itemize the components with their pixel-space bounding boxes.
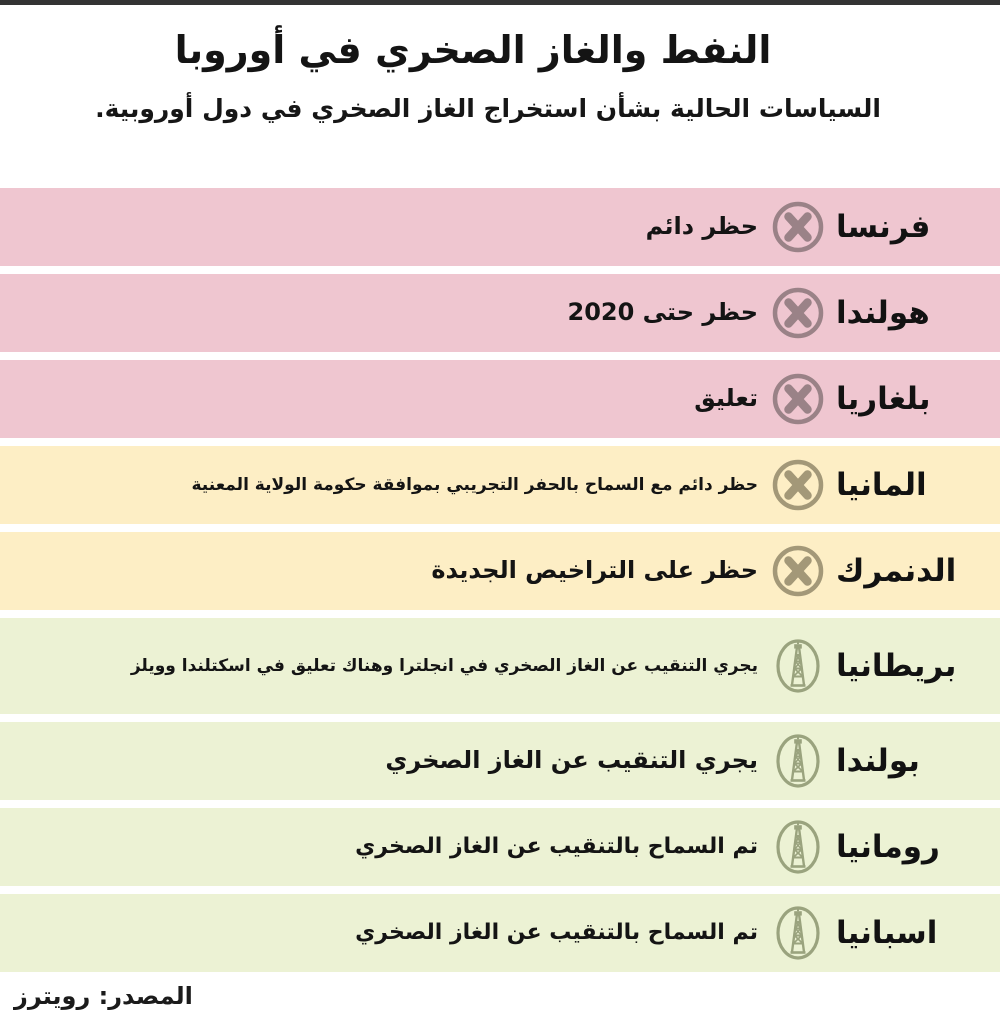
policy-row: رومانياتم السماح بالتنقيب عن الغاز الصخر… (0, 808, 1000, 886)
policy-status-text: حظر دائم (14, 211, 766, 243)
header: النفط والغاز الصخري في أوروبا السياسات ا… (0, 5, 1000, 185)
policy-status-text: يجري التنقيب عن الغاز الصخري في انجلترا … (14, 655, 766, 677)
page-subtitle: السياسات الحالية بشأن استخراج الغاز الصخ… (24, 93, 952, 126)
policy-status-text: تم السماح بالتنقيب عن الغاز الصخري (14, 918, 766, 947)
country-name: اسبانيا (830, 918, 980, 949)
policy-status-text: حظر دائم مع السماح بالحفر التجريبي بمواف… (14, 474, 766, 496)
country-name: رومانيا (830, 832, 980, 863)
policy-row: بولندايجري التنقيب عن الغاز الصخري (0, 722, 1000, 800)
country-policy-list: فرنساحظر دائمهولنداحظر حتى 2020بلغارياتع… (0, 188, 1000, 980)
country-name: بلغاريا (830, 384, 980, 415)
country-name: هولندا (830, 298, 980, 329)
infographic-page: النفط والغاز الصخري في أوروبا السياسات ا… (0, 0, 1000, 1012)
policy-status-text: تم السماح بالتنقيب عن الغاز الصخري (14, 832, 766, 861)
policy-status-text: يجري التنقيب عن الغاز الصخري (14, 745, 766, 777)
oil-derrick-icon (766, 818, 830, 876)
x-circle-icon (766, 200, 830, 254)
source-label: المصدر: رويترز (14, 982, 193, 1010)
policy-row: الدنمركحظر على التراخيص الجديدة (0, 532, 1000, 610)
x-circle-icon (766, 372, 830, 426)
policy-status-text: تعليق (14, 383, 766, 415)
country-name: بريطانيا (830, 651, 980, 682)
policy-row: فرنساحظر دائم (0, 188, 1000, 266)
source-footer: المصدر: رويترز (0, 982, 1000, 1010)
policy-row: هولنداحظر حتى 2020 (0, 274, 1000, 352)
policy-status-text: حظر حتى 2020 (14, 297, 766, 329)
page-title: النفط والغاز الصخري في أوروبا (24, 27, 952, 75)
policy-row: المانياحظر دائم مع السماح بالحفر التجريب… (0, 446, 1000, 524)
country-name: الدنمرك (830, 556, 980, 587)
policy-row: بلغارياتعليق (0, 360, 1000, 438)
x-circle-icon (766, 544, 830, 598)
policy-row: اسبانياتم السماح بالتنقيب عن الغاز الصخر… (0, 894, 1000, 972)
x-circle-icon (766, 286, 830, 340)
policy-status-text: حظر على التراخيص الجديدة (14, 555, 766, 587)
oil-derrick-icon (766, 732, 830, 790)
oil-derrick-icon (766, 904, 830, 962)
country-name: فرنسا (830, 212, 980, 243)
country-name: المانيا (830, 470, 980, 501)
x-circle-icon (766, 458, 830, 512)
country-name: بولندا (830, 746, 980, 777)
policy-row: بريطانيايجري التنقيب عن الغاز الصخري في … (0, 618, 1000, 714)
oil-derrick-icon (766, 637, 830, 695)
